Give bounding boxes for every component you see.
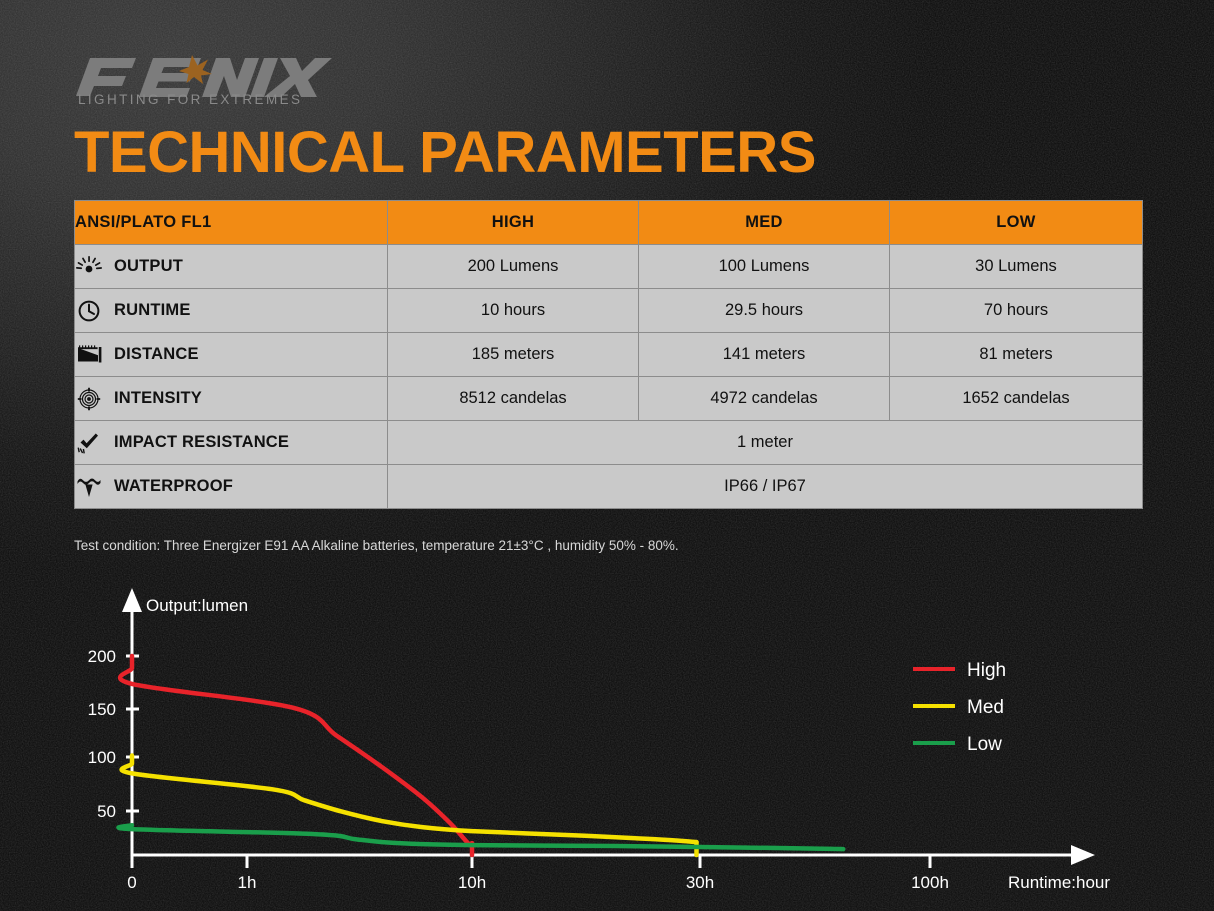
param-waterproof: WATERPROOF — [75, 465, 388, 509]
waterdrop-icon — [75, 475, 103, 499]
x-axis-label: Runtime:hour — [1008, 873, 1110, 892]
cell-output-med: 100 Lumens — [639, 245, 890, 289]
y-tick-50: 50 — [97, 802, 116, 821]
chart-legend: High Med Low — [913, 660, 1006, 755]
cell-distance-high: 185 meters — [388, 333, 639, 377]
y-tick-100: 100 — [88, 748, 116, 767]
cell-runtime-high: 10 hours — [388, 289, 639, 333]
target-icon — [75, 387, 103, 411]
param-runtime: RUNTIME — [75, 289, 388, 333]
table-row: RUNTIME 10 hours 29.5 hours 70 hours — [75, 289, 1143, 333]
param-label: INTENSITY — [114, 389, 202, 408]
param-label: WATERPROOF — [114, 477, 233, 496]
cell-runtime-med: 29.5 hours — [639, 289, 890, 333]
cell-intensity-med: 4972 candelas — [639, 377, 890, 421]
runtime-chart: Output:lumen Runtime:hour 200 150 100 50… — [0, 580, 1214, 911]
header-low: LOW — [890, 201, 1143, 245]
sun-burst-icon — [75, 255, 103, 279]
series-line-high — [120, 656, 472, 845]
param-label: IMPACT RESISTANCE — [114, 433, 289, 452]
x-tick-0: 0 — [127, 873, 136, 892]
cell-output-low: 30 Lumens — [890, 245, 1143, 289]
header-ansi-plato: ANSI/PLATO FL1 — [75, 201, 388, 245]
cell-output-high: 200 Lumens — [388, 245, 639, 289]
cell-intensity-low: 1652 candelas — [890, 377, 1143, 421]
cell-intensity-high: 8512 candelas — [388, 377, 639, 421]
table-row: DISTANCE 185 meters 141 meters 81 meters — [75, 333, 1143, 377]
table-row: OUTPUT 200 Lumens 100 Lumens 30 Lumens — [75, 245, 1143, 289]
cell-impact-resistance-value: 1 meter — [388, 421, 1143, 465]
series-line-low — [118, 825, 843, 849]
page-title: TECHNICAL PARAMETERS — [74, 124, 816, 182]
legend-label-low: Low — [967, 734, 1002, 755]
table-header-row: ANSI/PLATO FL1 HIGH MED LOW — [75, 201, 1143, 245]
chart-axes — [122, 588, 1095, 868]
table-body: OUTPUT 200 Lumens 100 Lumens 30 Lumens R… — [75, 245, 1143, 509]
impact-check-icon — [75, 431, 103, 455]
brand-tagline: LIGHTING FOR EXTREMES — [78, 92, 302, 107]
technical-parameters-table: ANSI/PLATO FL1 HIGH MED LOW — [74, 200, 1143, 509]
y-tick-200: 200 — [88, 647, 116, 666]
y-axis-label: Output:lumen — [146, 596, 248, 615]
param-intensity: INTENSITY — [75, 377, 388, 421]
beam-distance-icon — [75, 343, 103, 367]
y-tick-150: 150 — [88, 700, 116, 719]
param-label: RUNTIME — [114, 301, 191, 320]
param-distance: DISTANCE — [75, 333, 388, 377]
clock-icon — [75, 299, 103, 323]
cell-distance-med: 141 meters — [639, 333, 890, 377]
param-impact-resistance: IMPACT RESISTANCE — [75, 421, 388, 465]
cell-waterproof-value: IP66 / IP67 — [388, 465, 1143, 509]
table-row: IMPACT RESISTANCE 1 meter — [75, 421, 1143, 465]
cell-runtime-low: 70 hours — [890, 289, 1143, 333]
test-condition-note: Test condition: Three Energizer E91 AA A… — [74, 538, 679, 553]
chart-series-group — [118, 656, 843, 855]
param-label: OUTPUT — [114, 257, 183, 276]
x-tick-100h: 100h — [911, 873, 949, 892]
x-tick-1h: 1h — [238, 873, 257, 892]
legend-label-high: High — [967, 660, 1006, 681]
table-row: INTENSITY 8512 candelas 4972 candelas 16… — [75, 377, 1143, 421]
header-high: HIGH — [388, 201, 639, 245]
table-row: WATERPROOF IP66 / IP67 — [75, 465, 1143, 509]
legend-label-med: Med — [967, 697, 1004, 718]
x-tick-10h: 10h — [458, 873, 486, 892]
header-med: MED — [639, 201, 890, 245]
param-output: OUTPUT — [75, 245, 388, 289]
cell-distance-low: 81 meters — [890, 333, 1143, 377]
fenix-logo: LIGHTING FOR EXTREMES — [74, 52, 374, 112]
x-tick-30h: 30h — [686, 873, 714, 892]
param-label: DISTANCE — [114, 345, 199, 364]
